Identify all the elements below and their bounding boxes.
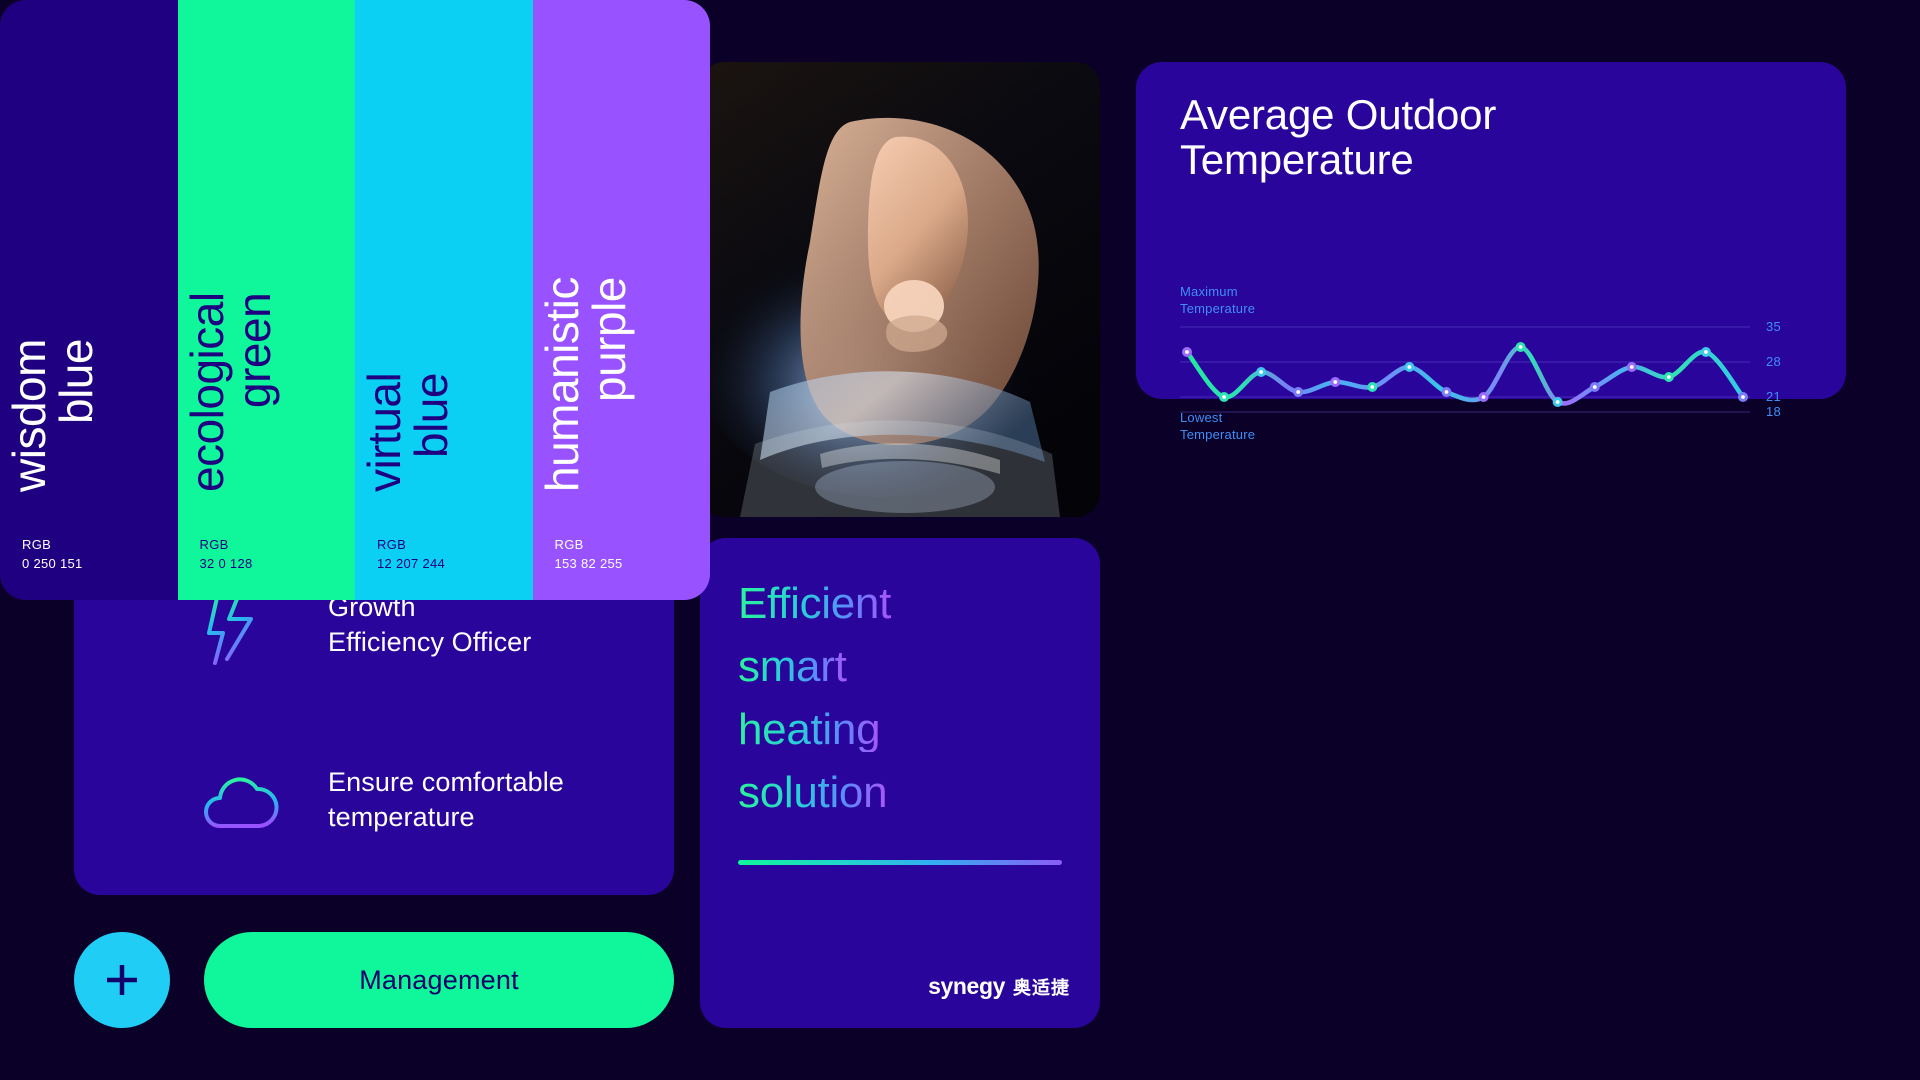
chart-data-point-core: [1630, 365, 1634, 369]
chart-y-ticks: 35282118: [1766, 312, 1826, 422]
brand-name-cn: 奥适捷: [1013, 974, 1070, 1000]
chart-data-point-core: [1445, 390, 1449, 394]
chart-y-tick-label: 21: [1766, 389, 1781, 404]
chart-data-point-core: [1519, 345, 1523, 349]
cloud-icon: [190, 750, 296, 850]
color-swatch-rgb: RGB 12 207 244: [377, 536, 445, 574]
chart-y-tick-label: 28: [1766, 354, 1781, 369]
chart-data-point-core: [1185, 350, 1189, 354]
chart-data-point-core: [1667, 375, 1671, 379]
list-item-label: Ensure comfortable temperature: [328, 765, 564, 834]
chart-data-point-core: [1482, 395, 1486, 399]
color-swatch-name: humanistic purple: [533, 22, 711, 492]
color-swatch[interactable]: ecological greenRGB 32 0 128: [178, 0, 356, 600]
chart-data-point-core: [1333, 380, 1337, 384]
list-item-label: Growth Efficiency Officer: [328, 590, 531, 659]
color-swatch-rgb: RGB 0 250 151: [22, 536, 83, 574]
chart-data-point-core: [1408, 365, 1412, 369]
chart-data-point-core: [1704, 350, 1708, 354]
color-swatch[interactable]: wisdom blueRGB 0 250 151: [0, 0, 178, 600]
chart-y-tick-label: 18: [1766, 404, 1781, 419]
heating-line-2: smart: [738, 645, 847, 689]
color-swatch-rgb: RGB 153 82 255: [555, 536, 623, 574]
management-button-label: Management: [359, 965, 519, 996]
poster-canvas: Intelligence Transformation Temperature …: [0, 0, 1920, 1080]
chart-plot-area: [1180, 312, 1750, 422]
chart-data-point-core: [1593, 385, 1597, 389]
temperature-chart-card: Average Outdoor Temperature Maximum Temp…: [1136, 62, 1846, 399]
tablet-touch-photo: [700, 62, 1100, 517]
chart-data-point-core: [1222, 395, 1226, 399]
chart-y-tick-label: 35: [1766, 319, 1781, 334]
color-swatch-name: wisdom blue: [0, 22, 178, 492]
management-button[interactable]: Management: [204, 932, 674, 1028]
heating-line-4: solution: [738, 771, 887, 815]
color-swatch[interactable]: humanistic purpleRGB 153 82 255: [533, 0, 711, 600]
brand-logo: synegy 奥适捷: [738, 973, 1070, 1000]
color-swatch[interactable]: virtual blueRGB 12 207 244: [355, 0, 533, 600]
add-button[interactable]: [74, 932, 170, 1028]
brand-name: synegy: [928, 973, 1005, 1000]
photo-card: [700, 62, 1100, 517]
color-swatch-name: virtual blue: [355, 22, 533, 492]
heating-solution-card: Efficient smart heating solution synegy …: [700, 538, 1100, 1028]
chart-data-point-core: [1556, 400, 1560, 404]
heating-line-3: heating: [738, 708, 880, 752]
heating-line-1: Efficient: [738, 582, 891, 626]
plus-icon: [100, 958, 144, 1002]
chart-title: Average Outdoor Temperature: [1180, 92, 1496, 183]
color-swatch-name: ecological green: [178, 22, 356, 492]
chart-data-point-core: [1370, 385, 1374, 389]
color-swatch-card: wisdom blueRGB 0 250 151ecological green…: [0, 0, 710, 600]
color-swatch-rgb: RGB 32 0 128: [200, 536, 253, 574]
gradient-divider: [738, 860, 1062, 865]
chart-data-point-core: [1296, 390, 1300, 394]
list-item[interactable]: Ensure comfortable temperature: [74, 730, 674, 870]
chart-data-point-core: [1259, 370, 1263, 374]
chart-data-point-core: [1741, 395, 1745, 399]
